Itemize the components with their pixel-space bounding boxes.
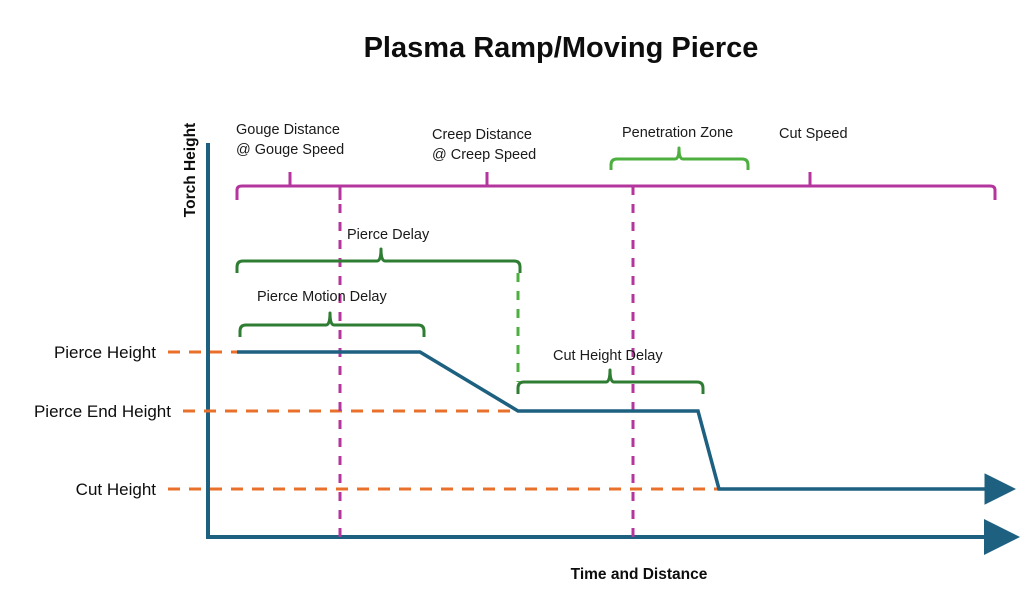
penetration-zone-brace — [611, 148, 748, 170]
speed-label-1: Creep Distance — [432, 127, 532, 143]
speed-label-0-line2: @ Gouge Speed — [236, 142, 344, 158]
cut-height-label: Cut Height — [76, 480, 157, 499]
diagram-canvas: Plasma Ramp/Moving Pierce Torch Height T… — [0, 0, 1032, 596]
speed-label-0: Gouge Distance — [236, 122, 340, 138]
speed-label-1-line2: @ Creep Speed — [432, 147, 536, 163]
speed-label-2: Cut Speed — [779, 126, 848, 142]
annotation-label-group: Gouge Distance@ Gouge SpeedCreep Distanc… — [236, 122, 848, 364]
plasma-ramp-diagram: Plasma Ramp/Moving Pierce Torch Height T… — [0, 0, 1032, 596]
y-axis-title: Torch Height — [182, 123, 199, 217]
speed-bracket-rail — [237, 186, 995, 200]
pierce-motion-delay-brace-label: Pierce Motion Delay — [257, 289, 387, 305]
pierce-motion-delay-brace — [240, 313, 424, 337]
pierce-end-height-label: Pierce End Height — [34, 402, 171, 421]
height-level-lines: Pierce HeightPierce End HeightCut Height — [34, 343, 719, 499]
pierce-delay-brace — [237, 249, 520, 273]
cut-height-delay-brace — [518, 370, 703, 394]
page-title: Plasma Ramp/Moving Pierce — [364, 32, 759, 64]
speed-bracket-group — [237, 172, 995, 200]
torch-height-curve-group — [237, 352, 988, 489]
x-axis-title: Time and Distance — [571, 566, 708, 583]
cut-height-delay-brace-label: Cut Height Delay — [553, 348, 663, 364]
pierce-height-label: Pierce Height — [54, 343, 156, 362]
axes — [206, 143, 988, 537]
pierce-delay-brace-label: Pierce Delay — [347, 227, 430, 243]
penetration-zone-brace-label: Penetration Zone — [622, 125, 733, 141]
